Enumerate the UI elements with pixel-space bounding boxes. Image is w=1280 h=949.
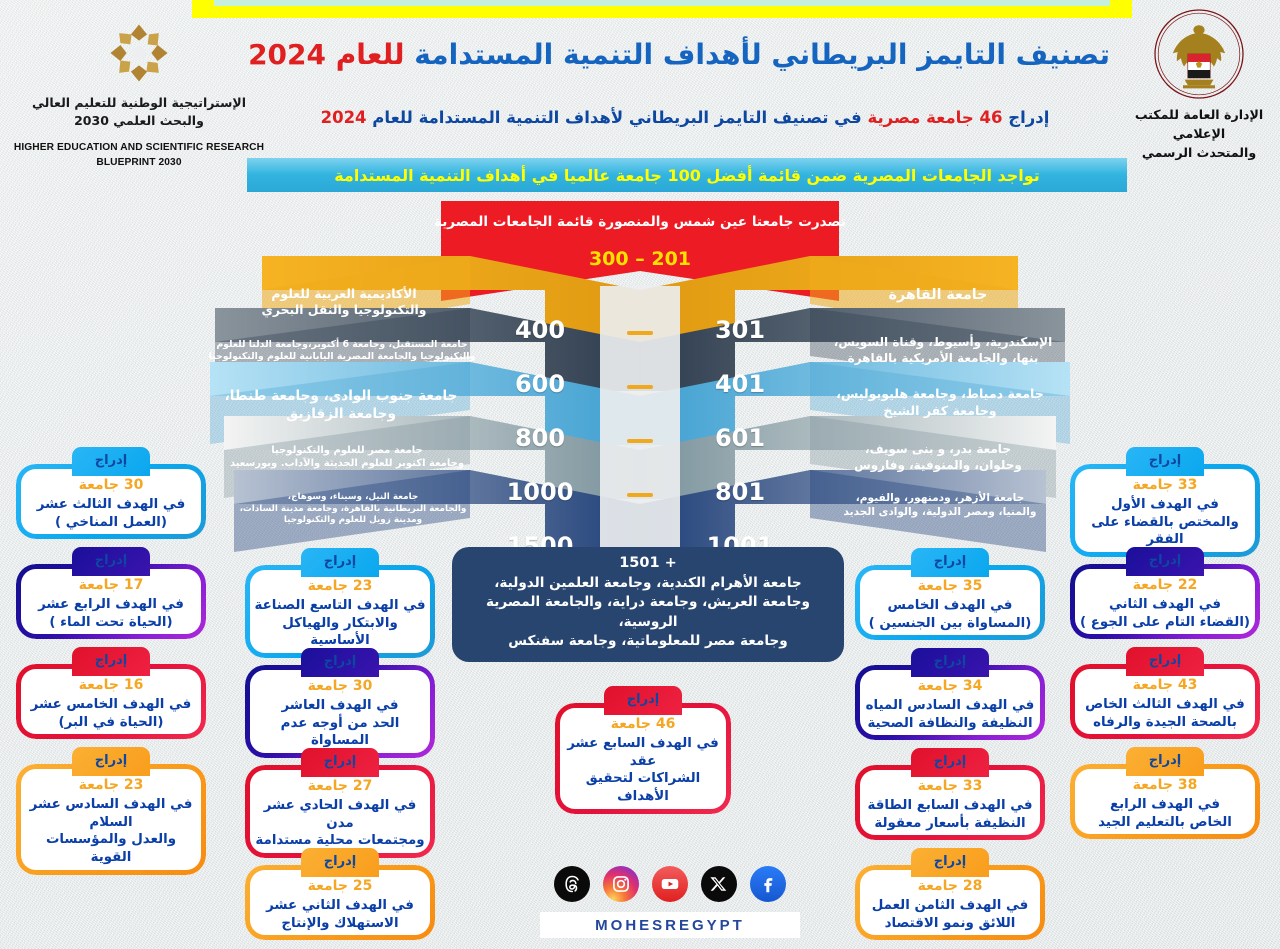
badge-text: في الهدف الحادي عشر مدنومجتمعات محلية مس…	[253, 797, 427, 850]
social-block: MOHESREGYPT	[540, 866, 800, 938]
badge-count: 34 جامعة	[863, 678, 1037, 695]
badge-count: 23 جامعة	[253, 578, 427, 595]
badge-count: 22 جامعة	[1078, 577, 1252, 594]
ministry-caption: الإدارة العامة للمكتب الإعلاميوالمتحدث ا…	[1124, 106, 1274, 163]
funnel-right-number: 801	[715, 478, 765, 506]
page-title-part2: للعام 2024	[248, 38, 404, 71]
badge-text: في الهدف السادس عشر السلاموالعدل والمؤسس…	[24, 796, 198, 867]
badge-count: 35 جامعة	[863, 578, 1037, 595]
subtitle-part3: في تصنيف التايمز البريطاني لأهداف التنمي…	[372, 108, 861, 127]
page-subtitle: إدراج 46 جامعة مصرية في تصنيف التايمز ال…	[260, 108, 1110, 127]
badge-count-number: 38	[1178, 777, 1197, 793]
badge-count: 38 جامعة	[1078, 777, 1252, 794]
funnel-left-number: 400	[515, 316, 565, 344]
instagram-icon[interactable]	[603, 866, 639, 902]
badge-text: في الهدف الأولوالمختص بالقضاء على الفقر	[1078, 496, 1252, 549]
svg-text:وزارة التعليم العالى والبحث ال: وزارة التعليم العالى والبحث العلمى	[1151, 6, 1153, 7]
badge-text: في الهدف الرابع عشر(الحياة تحت الماء )	[24, 596, 198, 632]
funnel-left-label: جامعة جنوب الوادى، وجامعة طنطا،وجامعة ال…	[216, 388, 466, 424]
badge-text: في الهدف الثامن العملاللائق ونمو الاقتصا…	[863, 897, 1037, 933]
badge-text: في الهدف الثاني عشرالاستهلاك والإنتاج	[253, 897, 427, 933]
badge-tab-label: إدراج	[72, 447, 150, 469]
badge-tab-label: إدراج	[1126, 647, 1204, 669]
infographic-page: الإستراتيجية الوطنية للتعليم العاليوالبح…	[0, 0, 1280, 949]
funnel-left-label: جامعة النيل، وسيناء، وسوهاج،والجامعة الب…	[238, 492, 468, 527]
funnel-left-number: 1000	[507, 478, 574, 506]
subtitle-part2: 46 جامعة مصرية	[867, 108, 1002, 127]
badge-count-number: 33	[963, 778, 982, 794]
badge-count: 25 جامعة	[253, 878, 427, 895]
badge-count-number: 22	[1178, 577, 1197, 593]
blueprint-title-ar: الإستراتيجية الوطنية للتعليم العاليوالبح…	[8, 94, 270, 130]
funnel-right-number: 601	[715, 424, 765, 452]
funnel-right-label: الإسكندرية، وأسيوط، وقناة السويس،بنها، و…	[812, 335, 1074, 367]
badge-tab-label: إدراج	[911, 548, 989, 570]
funnel-right-number: 301	[715, 316, 765, 344]
sdg-badge-sdg2[interactable]: إدراج22 جامعةفي الهدف الثاني(القضاء التا…	[1070, 564, 1260, 639]
badge-count-number: 23	[353, 578, 372, 594]
funnel-left-label: جامعة مصر للعلوم والتكنولوجياوجامعة اكتو…	[228, 444, 466, 470]
badge-tab-label: إدراج	[301, 848, 379, 870]
badge-count: 23 جامعة	[24, 777, 198, 794]
badge-text: في الهدف السابع الطاقةالنظيفة بأسعار معق…	[863, 797, 1037, 833]
badge-count: 46 جامعة	[563, 716, 723, 733]
blueprint-title-en: HIGHER EDUCATION AND SCIENTIFIC RESEARCH…	[8, 141, 270, 170]
facebook-icon[interactable]	[750, 866, 786, 902]
highlight-bar-text: تواجد الجامعات المصرية ضمن قائمة أفضل 10…	[334, 166, 1040, 185]
badge-text: في الهدف الخامس(المساواة بين الجنسين )	[863, 597, 1037, 633]
social-handle: MOHESREGYPT	[595, 917, 745, 934]
subtitle-part4: 2024	[321, 108, 367, 127]
badge-text: في الهدف السادس المياهالنظيفة والنظافة ا…	[863, 697, 1037, 733]
badge-count-number: 30	[124, 477, 143, 493]
funnel-right-label: جامعة دمياط، وجامعة هليوبوليس،وجامعة كفر…	[812, 386, 1068, 419]
badge-count: 30 جامعة	[24, 477, 198, 494]
badge-count-number: 17	[124, 577, 143, 593]
subtitle-part1: إدراج	[1008, 108, 1049, 127]
badge-count: 27 جامعة	[253, 778, 427, 795]
badge-count: 33 جامعة	[863, 778, 1037, 795]
funnel-left-number: 800	[515, 424, 565, 452]
funnel-left-label: جامعة المستقبل، وجامعة 6 أكتوبر،وجامعة ا…	[196, 339, 488, 364]
badge-tab-label: إدراج	[911, 648, 989, 670]
badge-tab-label: إدراج	[72, 747, 150, 769]
badge-tab-label: إدراج	[72, 647, 150, 669]
badge-count-number: 28	[963, 878, 982, 894]
page-title-part1: تصنيف التايمز البريطاني لأهداف التنمية ا…	[414, 38, 1110, 71]
funnel-top-range: 201 – 300	[430, 248, 850, 270]
badge-count: 16 جامعة	[24, 677, 198, 694]
badge-tab-label: إدراج	[301, 548, 379, 570]
funnel-dash	[627, 439, 653, 443]
threads-icon[interactable]	[554, 866, 590, 902]
sdg-badge-sdg7[interactable]: إدراج33 جامعةفي الهدف السابع الطاقةالنظي…	[855, 765, 1045, 840]
sdg-badge-sdg10[interactable]: إدراج30 جامعةفي الهدف العاشرالحد من أوجه…	[245, 665, 435, 758]
badge-count-number: 46	[656, 716, 675, 732]
badge-tab-label: إدراج	[1126, 447, 1204, 469]
badge-count-number: 34	[963, 678, 982, 694]
social-icons	[540, 866, 800, 902]
top-ribbon	[192, 0, 1132, 18]
page-title: تصنيف التايمز البريطاني لأهداف التنمية ا…	[260, 38, 1110, 71]
badge-tab-label: إدراج	[1126, 747, 1204, 769]
badge-count-number: 33	[1178, 477, 1197, 493]
funnel-bottom-box: + 1501 جامعة الأهرام الكندية، وجامعة الع…	[452, 547, 844, 662]
highlight-bar: تواجد الجامعات المصرية ضمن قائمة أفضل 10…	[247, 158, 1127, 192]
social-handle-box: MOHESREGYPT	[540, 912, 800, 938]
badge-text: في الهدف الثاني(القضاء التام على الجوع )	[1078, 596, 1252, 632]
funnel-dash	[627, 331, 653, 335]
sdg-badge-sdg1[interactable]: إدراج33 جامعةفي الهدف الأولوالمختص بالقض…	[1070, 464, 1260, 557]
sdg-badge-sdg5[interactable]: إدراج35 جامعةفي الهدف الخامس(المساواة بي…	[855, 565, 1045, 640]
funnel-right-number: 401	[715, 370, 765, 398]
funnel-right-label: جامعة بدر، و بنى سويف،وحلوان، والمنوفية،…	[816, 442, 1060, 474]
sdg-badge-sdg13[interactable]: إدراج30 جامعةفي الهدف الثالث عشر(العمل ا…	[16, 464, 206, 539]
funnel-bottom-range: + 1501	[466, 555, 830, 571]
badge-count-number: 16	[124, 677, 143, 693]
funnel-left-label: الأكاديمية العربية للعلوموالتكنولوجيا وا…	[222, 286, 466, 319]
badge-tab-label: إدراج	[911, 748, 989, 770]
sdg-badge-sdg12[interactable]: إدراج25 جامعةفي الهدف الثاني عشرالاستهلا…	[245, 865, 435, 940]
blueprint-star-icon	[108, 22, 170, 84]
badge-count: 17 جامعة	[24, 577, 198, 594]
badge-count-number: 25	[353, 878, 372, 894]
funnel-left-number: 600	[515, 370, 565, 398]
badge-tab-label: إدراج	[301, 748, 379, 770]
badge-count: 28 جامعة	[863, 878, 1037, 895]
sdg-badge-sdg14[interactable]: إدراج17 جامعةفي الهدف الرابع عشر(الحياة …	[16, 564, 206, 639]
badge-text: في الهدف الخامس عشر(الحياة في البر)	[24, 696, 198, 732]
badge-count-number: 30	[353, 678, 372, 694]
youtube-icon[interactable]	[652, 866, 688, 902]
sdg-badge-sdg16[interactable]: إدراج23 جامعةفي الهدف السادس عشر السلامو…	[16, 764, 206, 875]
badge-count-number: 23	[124, 777, 143, 793]
badge-tab-label: إدراج	[911, 848, 989, 870]
badge-tab-label: إدراج	[301, 648, 379, 670]
badge-count-number: 35	[963, 578, 982, 594]
funnel-right-label: جامعة القاهرة	[816, 286, 1060, 305]
badge-text: في الهدف الرابعالخاص بالتعليم الجيد	[1078, 796, 1252, 832]
ministry-eagle-seal-icon: وزارة التعليم العالى والبحث العلمى	[1151, 6, 1247, 102]
sdg-badge-sdg15[interactable]: إدراج16 جامعةفي الهدف الخامس عشر(الحياة …	[16, 664, 206, 739]
sdg-badge-sdg6[interactable]: إدراج34 جامعةفي الهدف السادس المياهالنظي…	[855, 665, 1045, 740]
sdg-badge-sdg3[interactable]: إدراج43 جامعةفي الهدف الثالث الخاصبالصحة…	[1070, 664, 1260, 739]
sdg-badge-sdg11[interactable]: إدراج27 جامعةفي الهدف الحادي عشر مدنومجت…	[245, 765, 435, 858]
badge-count: 33 جامعة	[1078, 477, 1252, 494]
funnel-dash	[627, 385, 653, 389]
badge-tab-label: إدراج	[604, 686, 682, 708]
ministry-logo-block: وزارة التعليم العالى والبحث العلمى الإدا…	[1124, 6, 1274, 163]
badge-text: في الهدف السابع عشر عقدالشراكات لتحقيق ا…	[563, 735, 723, 806]
blueprint-logo-block: الإستراتيجية الوطنية للتعليم العاليوالبح…	[8, 22, 270, 170]
badge-count: 43 جامعة	[1078, 677, 1252, 694]
top-ribbon-inner	[214, 0, 1110, 6]
badge-text: في الهدف الثالث عشر(العمل المناخي )	[24, 496, 198, 532]
badge-count-number: 43	[1178, 677, 1197, 693]
badge-count: 30 جامعة	[253, 678, 427, 695]
funnel-dash	[627, 493, 653, 497]
x-twitter-icon[interactable]	[701, 866, 737, 902]
badge-count-number: 27	[353, 778, 372, 794]
funnel-right-label: جامعة الأزهر، ودمنهور، والفيوم،والمنيا، …	[812, 492, 1068, 520]
badge-text: في الهدف العاشرالحد من أوجه عدم المساواة	[253, 697, 427, 750]
sdg-badge-sdg9[interactable]: إدراج23 جامعةفي الهدف التاسع الصناعةوالا…	[245, 565, 435, 658]
sdg-badge-sdg17[interactable]: إدراج46 جامعةفي الهدف السابع عشر عقدالشر…	[555, 703, 731, 814]
badge-tab-label: إدراج	[1126, 547, 1204, 569]
badge-text: في الهدف التاسع الصناعةوالابتكار والهياك…	[253, 597, 427, 650]
funnel-bottom-text: جامعة الأهرام الكندية، وجامعة العلمين ال…	[466, 574, 830, 651]
sdg-badge-sdg8[interactable]: إدراج28 جامعةفي الهدف الثامن العملاللائق…	[855, 865, 1045, 940]
badge-tab-label: إدراج	[72, 547, 150, 569]
sdg-badge-sdg4[interactable]: إدراج38 جامعةفي الهدف الرابعالخاص بالتعل…	[1070, 764, 1260, 839]
badge-text: في الهدف الثالث الخاصبالصحة الجيدة والرف…	[1078, 696, 1252, 732]
funnel-top-title: تصدرت جامعتا عين شمس والمنصورة قائمة الج…	[430, 214, 850, 230]
